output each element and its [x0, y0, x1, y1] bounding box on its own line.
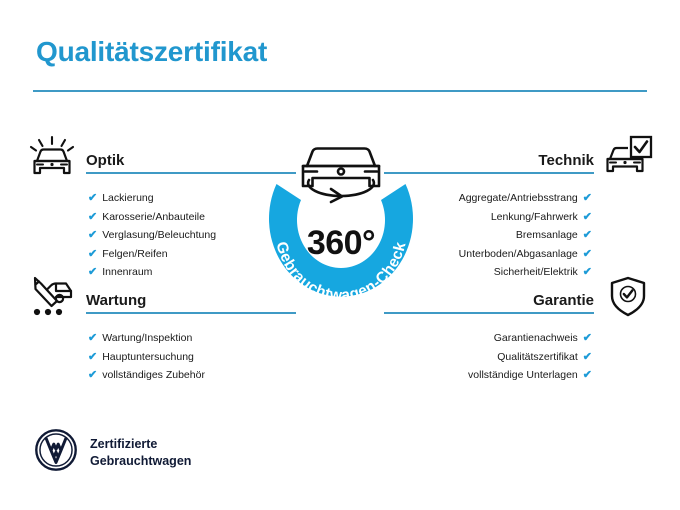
- check-icon: ✔: [88, 369, 97, 381]
- badge-center-label: 360°: [245, 224, 437, 263]
- list-item-label: Garantienachweis: [494, 332, 578, 344]
- list-item-label: Lackierung: [102, 192, 153, 204]
- check-icon: ✔: [583, 248, 592, 260]
- check-icon: ✔: [583, 192, 592, 204]
- list-item-label: Bremsanlage: [516, 229, 578, 241]
- list-item: vollständige Unterlagen✔: [384, 366, 592, 385]
- list-item-label: Verglasung/Beleuchtung: [102, 229, 216, 241]
- footer-line-2: Gebrauchtwagen: [90, 454, 191, 468]
- list-item: ✔Wartung/Inspektion: [88, 329, 296, 348]
- check-icon: ✔: [88, 248, 97, 260]
- list-item: ✔vollständiges Zubehör: [88, 366, 296, 385]
- car-shine-icon: [26, 135, 78, 179]
- volkswagen-logo: [34, 428, 78, 477]
- section-optik-title: Optik: [86, 152, 124, 169]
- check-icon: ✔: [88, 211, 97, 223]
- shield-check-icon: [602, 275, 654, 319]
- list-item: Garantienachweis✔: [384, 329, 592, 348]
- list-item-label: Hauptuntersuchung: [102, 351, 194, 363]
- list-item-label: Wartung/Inspektion: [102, 332, 192, 344]
- list-item-label: Karosserie/Anbauteile: [102, 211, 205, 223]
- list-item-label: Unterboden/Abgasanlage: [459, 248, 578, 260]
- check-icon: ✔: [88, 192, 97, 204]
- list-item-label: Lenkung/Fahrwerk: [491, 211, 578, 223]
- check-icon: ✔: [88, 351, 97, 363]
- check-icon: ✔: [583, 369, 592, 381]
- page-title: Qualitätszertifikat: [36, 36, 267, 68]
- car-checkbox-icon: [602, 135, 654, 179]
- check-icon: ✔: [88, 229, 97, 241]
- section-garantie-title: Garantie: [533, 292, 594, 309]
- list-item-label: Felgen/Reifen: [102, 248, 167, 260]
- list-item-label: vollständige Unterlagen: [468, 369, 578, 381]
- 360-check-badge: Gebrauchtwagen-Check 360°: [245, 128, 437, 320]
- check-icon: ✔: [583, 351, 592, 363]
- list-item-label: Aggregate/Antriebsstrang: [459, 192, 578, 204]
- list-item: ✔Hauptuntersuchung: [88, 348, 296, 367]
- car-rotate-icon: [303, 149, 379, 203]
- footer-line-1: Zertifizierte: [90, 437, 157, 451]
- list-item-label: Qualitätszertifikat: [497, 351, 578, 363]
- section-garantie-list: Garantienachweis✔ Qualitätszertifikat✔ v…: [384, 329, 654, 385]
- title-divider: [33, 90, 647, 92]
- footer-text: Zertifizierte Gebrauchtwagen: [90, 436, 191, 470]
- list-item-label: vollständiges Zubehör: [102, 369, 205, 381]
- check-icon: ✔: [583, 229, 592, 241]
- section-wartung-list: ✔Wartung/Inspektion ✔Hauptuntersuchung ✔…: [26, 329, 296, 385]
- check-icon: ✔: [88, 332, 97, 344]
- car-service-pen-icon: [26, 275, 78, 319]
- check-icon: ✔: [583, 211, 592, 223]
- check-icon: ✔: [583, 332, 592, 344]
- footer-brand: Zertifizierte Gebrauchtwagen: [34, 428, 191, 477]
- certificate-page: Qualitätszertifikat: [0, 0, 680, 510]
- section-technik-title: Technik: [538, 152, 594, 169]
- list-item: Qualitätszertifikat✔: [384, 348, 592, 367]
- section-wartung-title: Wartung: [86, 292, 146, 309]
